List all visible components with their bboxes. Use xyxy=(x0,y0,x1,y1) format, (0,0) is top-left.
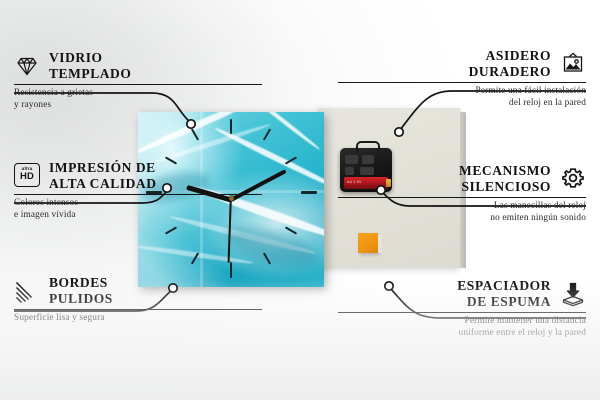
feature-sub-line2: y rayones xyxy=(14,100,262,111)
feature-vidrio-templado: VIDRIO TEMPLADO Resistencia a grietas y … xyxy=(14,50,262,111)
feature-sub-line1: Permite una fácil instalación xyxy=(338,86,586,97)
hanging-hook xyxy=(356,141,380,153)
feature-title-line1: ASIDERO xyxy=(469,48,551,64)
hour-tick xyxy=(263,128,271,140)
foam-spacer-side xyxy=(378,235,382,254)
feature-title-line2: SILENCIOSO xyxy=(459,179,551,195)
feature-title-line2: DURADERO xyxy=(469,64,551,80)
hour-tick xyxy=(301,191,317,194)
feature-sub-line1: Colores intensos xyxy=(14,198,262,209)
feature-sub-line1: Superficie lisa y segura xyxy=(14,313,262,324)
feather-streak xyxy=(138,112,271,157)
feature-divider xyxy=(14,309,262,310)
ultra-hd-icon-large-text: HD xyxy=(20,172,34,182)
feature-sub-line1: Resistencia a grietas xyxy=(14,88,262,99)
feature-title-line2: ALTA CALIDAD xyxy=(49,176,157,192)
feature-divider xyxy=(338,82,586,83)
gear-icon xyxy=(560,166,586,192)
feature-title-line1: MECANISMO xyxy=(459,163,551,179)
hour-tick xyxy=(230,119,232,134)
hanging-frame-icon xyxy=(560,51,586,77)
feature-divider xyxy=(338,312,586,313)
feature-title-line2: DE ESPUMA xyxy=(457,294,551,310)
hour-tick xyxy=(285,226,297,234)
feature-title-line1: ESPACIADOR xyxy=(457,278,551,294)
feature-title-line2: PULIDOS xyxy=(49,291,113,307)
polished-edges-icon xyxy=(14,278,40,304)
feature-sub-line2: no emiten ningún sonido xyxy=(338,213,586,224)
feature-espaciador-de-espuma: ESPACIADOR DE ESPUMA Permite mantener un… xyxy=(338,278,586,339)
feature-divider xyxy=(14,84,262,85)
feature-divider xyxy=(338,197,586,198)
hour-tick xyxy=(165,226,177,234)
feature-bordes-pulidos: BORDES PULIDOS Superficie lisa y segura xyxy=(14,275,262,325)
diamond-icon xyxy=(14,53,40,79)
feature-sub-line2: e imagen vívida xyxy=(14,210,262,221)
feature-sub-line1: Las manecillas del reloj xyxy=(338,201,586,212)
feature-asidero-duradero: ASIDERO DURADERO Permite una fácil insta… xyxy=(338,48,586,109)
feature-sub-line2: del reloj en la pared xyxy=(338,98,586,109)
foam-spacer-pad xyxy=(358,233,378,253)
feature-divider xyxy=(14,194,262,195)
feature-sub-line2: uniforme entre el reloj y la pared xyxy=(338,328,586,339)
foam-spacer-icon xyxy=(560,281,586,307)
feature-mecanismo-silencioso: MECANISMO SILENCIOSO Las manecillas del … xyxy=(338,163,586,224)
feature-title-line1: VIDRIO xyxy=(49,50,131,66)
feature-title-line1: BORDES xyxy=(49,275,113,291)
hour-tick xyxy=(191,128,199,140)
infographic-canvas: AA 1.5V xyxy=(0,0,600,400)
feature-title-line1: IMPRESIÓN DE xyxy=(49,160,157,176)
feature-title-line2: TEMPLADO xyxy=(49,66,131,82)
ultra-hd-icon: ultra HD xyxy=(14,163,40,189)
feature-sub-line1: Permite mantener una distancia xyxy=(338,316,586,327)
feature-impresion-alta-calidad: ultra HD IMPRESIÓN DE ALTA CALIDAD Color… xyxy=(14,160,262,221)
